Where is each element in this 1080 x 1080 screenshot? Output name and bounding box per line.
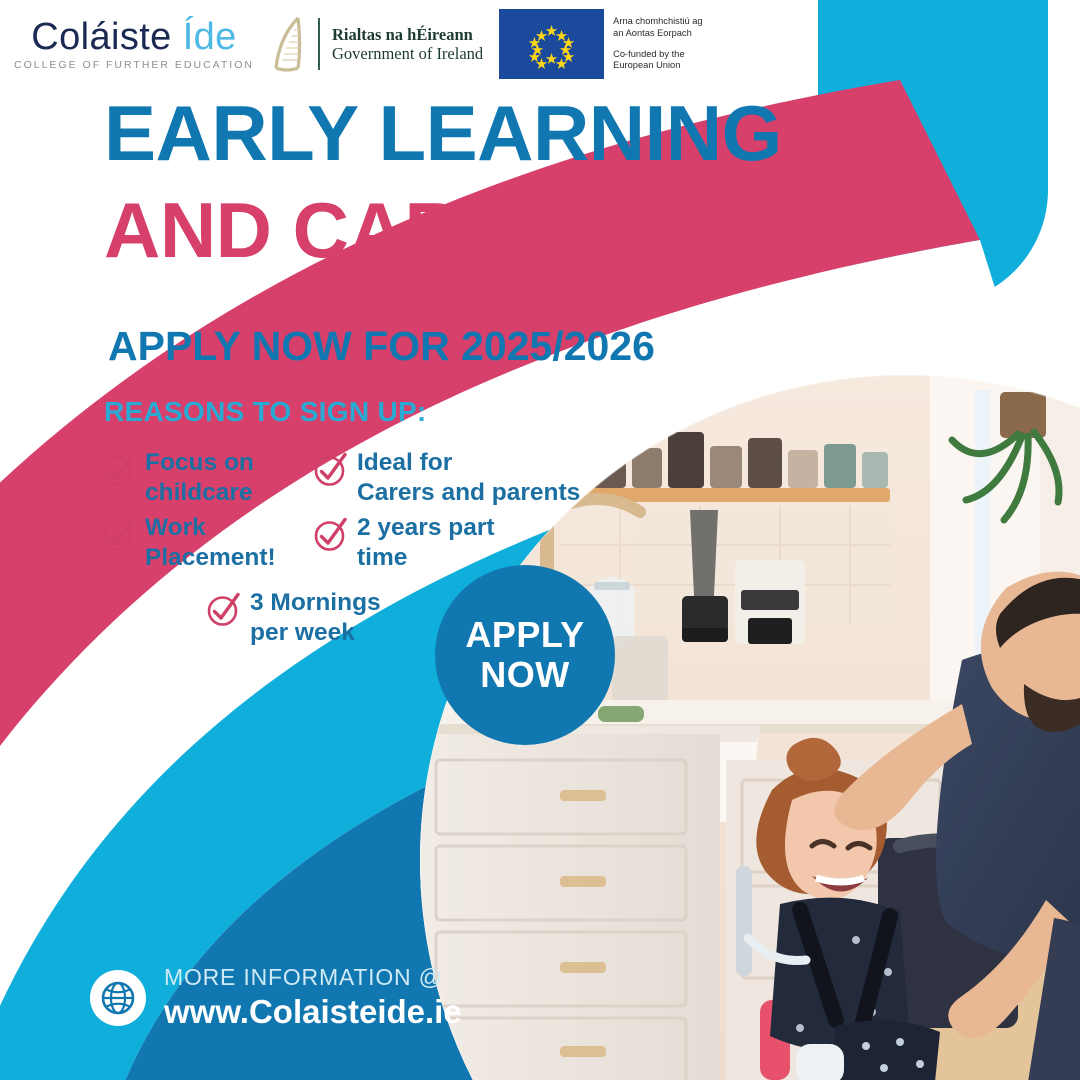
reason-label: Work Placement! xyxy=(145,513,276,573)
logo-divider xyxy=(318,18,320,70)
globe-badge xyxy=(90,970,146,1026)
reasons-heading: REASONS TO SIGN UP: xyxy=(104,396,427,428)
college-name-primary: Coláiste xyxy=(31,16,182,58)
eu-english-line2: European Union xyxy=(613,60,702,72)
more-information-label: MORE INFORMATION @ xyxy=(164,965,462,990)
check-circle-icon xyxy=(100,450,138,488)
check-circle-icon xyxy=(205,590,243,628)
eu-text-gap xyxy=(613,40,702,49)
reason-item: 2 years part time xyxy=(312,513,495,573)
college-subtitle: COLLEGE OF FURTHER EDUCATION xyxy=(14,59,254,71)
reason-item: 3 Mornings per week xyxy=(205,588,381,648)
reason-label: Ideal for Carers and parents xyxy=(357,448,580,508)
headline-line-2: AND CARE CERT xyxy=(104,193,782,268)
apply-now-line-2: NOW xyxy=(480,655,569,695)
poster-canvas: Coláiste Íde COLLEGE OF FURTHER EDUCATIO… xyxy=(0,0,1080,1080)
eu-english-line1: Co-funded by the xyxy=(613,49,702,61)
reason-item: Ideal for Carers and parents xyxy=(312,448,580,508)
apply-now-line-1: APPLY xyxy=(465,615,584,655)
apply-year-subheading: APPLY NOW FOR 2025/2026 xyxy=(108,323,655,370)
check-circle-icon xyxy=(100,515,138,553)
footer-text-block: MORE INFORMATION @ www.Colaisteide.ie xyxy=(164,965,462,1031)
eu-flag-icon xyxy=(499,9,604,79)
eu-funding-logo: Arna chomhchistiú ag an Aontas Eorpach C… xyxy=(499,9,702,79)
reason-label: Focus on childcare xyxy=(145,448,254,508)
colaiste-ide-logo: Coláiste Íde COLLEGE OF FURTHER EDUCATIO… xyxy=(14,18,254,71)
apply-now-button[interactable]: APPLY NOW xyxy=(435,565,615,745)
check-circle-icon xyxy=(312,515,350,553)
check-circle-icon xyxy=(312,450,350,488)
eu-funding-text: Arna chomhchistiú ag an Aontas Eorpach C… xyxy=(613,16,702,73)
globe-icon xyxy=(99,979,137,1017)
eu-irish-line2: an Aontas Eorpach xyxy=(613,28,702,40)
goi-irish-text: Rialtas na hÉireann xyxy=(332,25,483,44)
harp-icon xyxy=(268,14,306,74)
college-name-secondary: Íde xyxy=(183,16,237,58)
reason-item: Work Placement! xyxy=(100,513,276,573)
eu-irish-line1: Arna chomhchistiú ag xyxy=(613,16,702,28)
headline-block: EARLY LEARNING AND CARE CERT xyxy=(104,96,782,268)
reason-label: 3 Mornings per week xyxy=(250,588,381,648)
footer-contact: MORE INFORMATION @ www.Colaisteide.ie xyxy=(90,965,462,1031)
goi-english-text: Government of Ireland xyxy=(332,44,483,63)
logo-bar: Coláiste Íde COLLEGE OF FURTHER EDUCATIO… xyxy=(14,12,703,76)
reason-label: 2 years part time xyxy=(357,513,495,573)
reason-item: Focus on childcare xyxy=(100,448,254,508)
government-of-ireland-logo: Rialtas na hÉireann Government of Irelan… xyxy=(332,25,483,64)
headline-line-1: EARLY LEARNING xyxy=(104,96,782,171)
website-url[interactable]: www.Colaisteide.ie xyxy=(164,993,462,1031)
coffee-machine xyxy=(735,560,805,644)
